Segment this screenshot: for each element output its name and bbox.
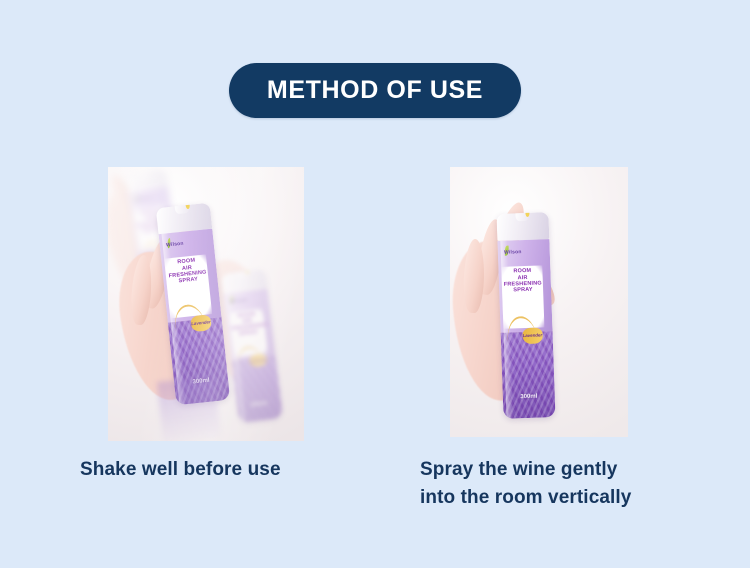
can-brand: Wilson bbox=[504, 249, 537, 256]
step-spray-image: Wilson ROOM AIR FRESHENING SPRAY Lavende… bbox=[450, 167, 628, 437]
step-shake: Wilson ROOM AIR FRESHENING SPRAY Lavende… bbox=[108, 167, 304, 441]
step-shake-image: Wilson ROOM AIR FRESHENING SPRAY Lavende… bbox=[108, 167, 304, 441]
motion-streak bbox=[157, 376, 221, 441]
page-title: METHOD OF USE bbox=[267, 76, 483, 105]
spray-can: Wilson ROOM AIR FRESHENING SPRAY Lavende… bbox=[496, 212, 555, 419]
step-spray-caption-line-1: Spray the wine gently bbox=[420, 456, 710, 484]
can-scent-badge-label: Lavender bbox=[191, 320, 211, 327]
step-shake-caption: Shake well before use bbox=[80, 456, 360, 484]
page-title-container: METHOD OF USE bbox=[0, 63, 750, 118]
method-of-use-panel: METHOD OF USE Wi bbox=[0, 0, 750, 568]
can-scent-badge-label: Lavender bbox=[249, 357, 269, 364]
page-title-pill: METHOD OF USE bbox=[229, 63, 521, 118]
step-spray: Wilson ROOM AIR FRESHENING SPRAY Lavende… bbox=[450, 167, 628, 437]
can-scent-badge: Lavender bbox=[522, 327, 542, 344]
can-scent-badge-label: Lavender bbox=[523, 333, 543, 339]
step-spray-caption: Spray the wine gently into the room vert… bbox=[420, 456, 710, 511]
can-label-lines: ROOM AIR FRESHENING SPRAY bbox=[503, 268, 543, 294]
step-spray-caption-line-2: into the room vertically bbox=[420, 484, 710, 512]
can-label-lines: ROOM AIR FRESHENING SPRAY bbox=[229, 310, 265, 339]
can-nozzle-dot bbox=[525, 212, 529, 217]
can-label-lines: ROOM AIR FRESHENING SPRAY bbox=[166, 257, 209, 286]
